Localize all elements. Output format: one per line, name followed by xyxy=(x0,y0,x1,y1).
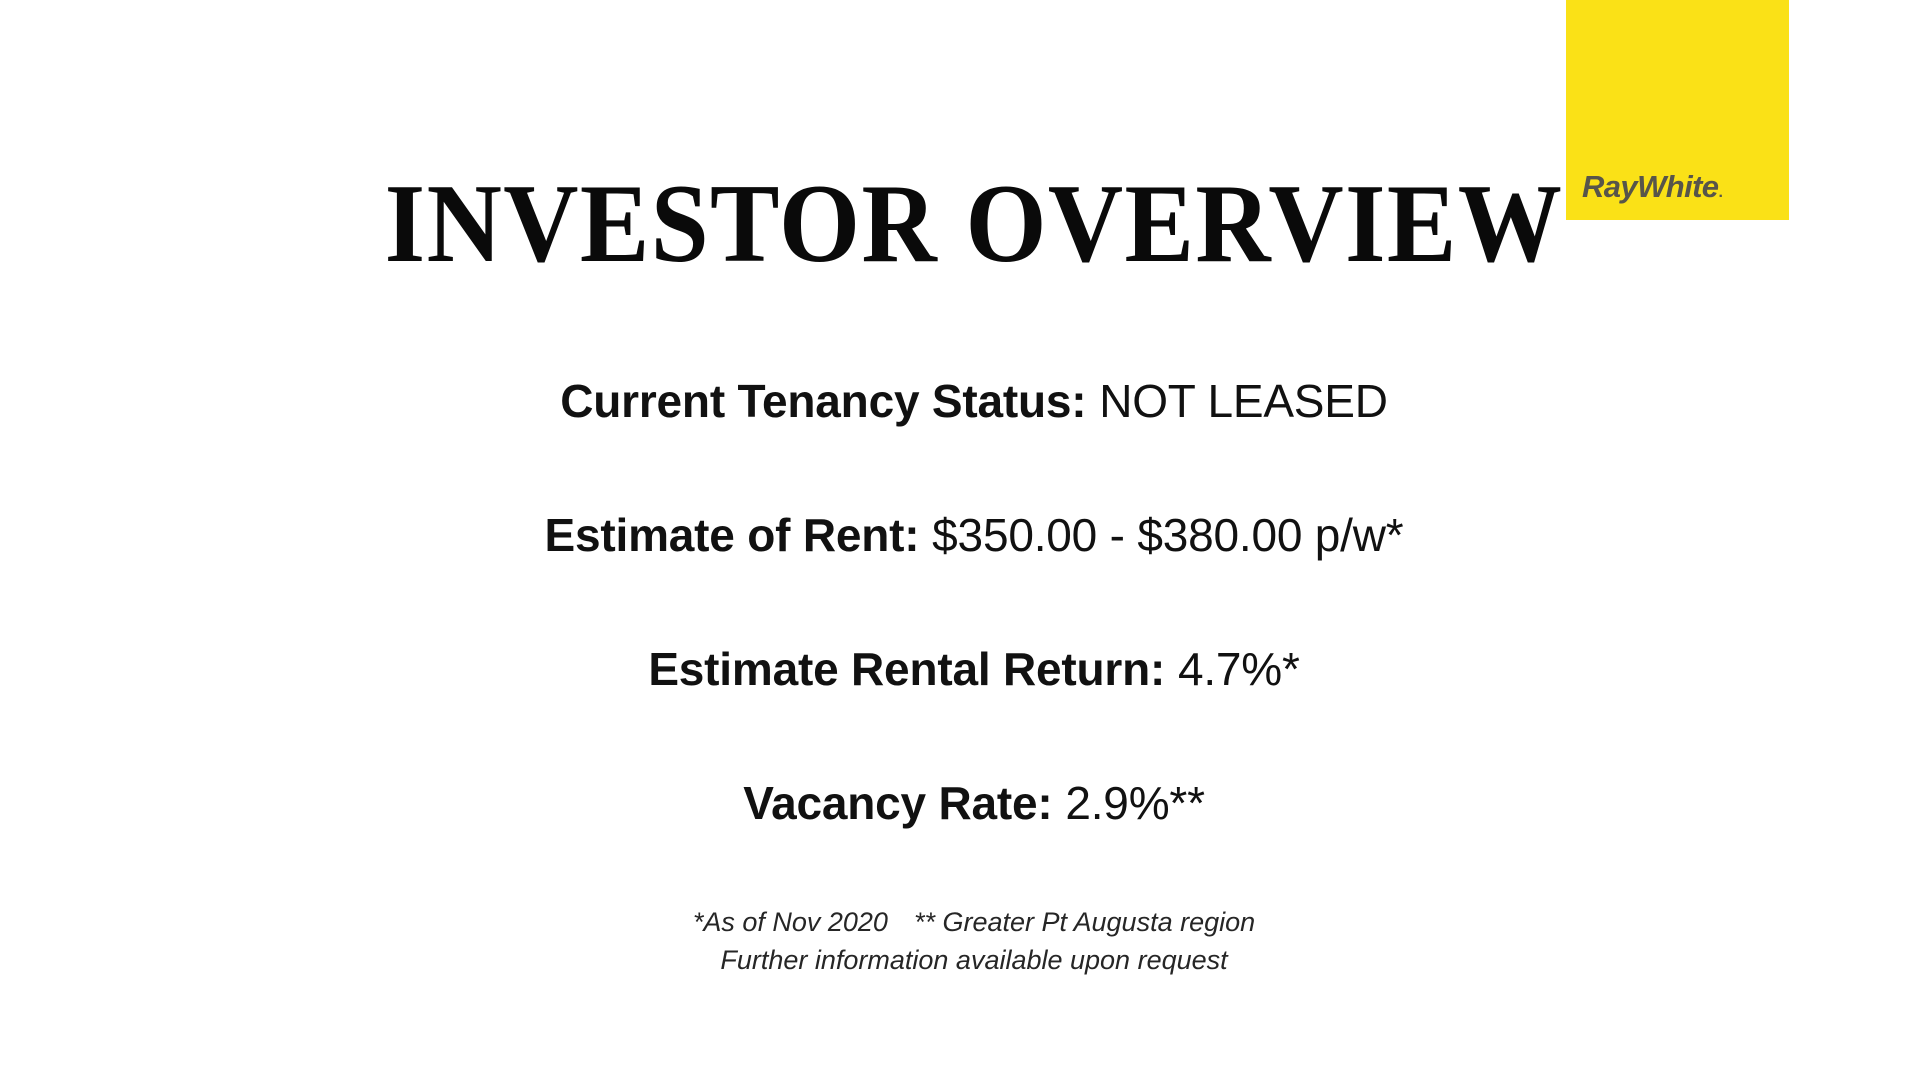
footnote-region: ** Greater Pt Augusta region xyxy=(914,907,1255,937)
stat-row-tenancy-status: Current Tenancy Status: NOT LEASED xyxy=(0,378,1920,424)
stat-row-vacancy-rate: Vacancy Rate: 2.9%** xyxy=(0,780,1920,826)
investor-overview-slide: RayWhite. INVESTOR OVERVIEW Current Tena… xyxy=(0,0,1920,1080)
stat-value-tenancy-status: NOT LEASED xyxy=(1099,375,1388,427)
footnotes: *As of Nov 2020** Greater Pt Augusta reg… xyxy=(0,903,1920,980)
footnote-line-2: Further information available upon reque… xyxy=(0,941,1920,979)
stat-row-estimate-of-rent: Estimate of Rent: $350.00 - $380.00 p/w* xyxy=(0,512,1920,558)
page-title: INVESTOR OVERVIEW xyxy=(68,168,1880,280)
stat-label-vacancy-rate: Vacancy Rate: xyxy=(743,777,1052,829)
stat-row-estimate-rental-return: Estimate Rental Return: 4.7%* xyxy=(0,646,1920,692)
footnote-as-of-date: *As of Nov 2020 xyxy=(693,907,888,937)
stat-value-estimate-rental-return: 4.7%* xyxy=(1178,643,1300,695)
stat-value-vacancy-rate: 2.9%** xyxy=(1065,777,1204,829)
stat-label-estimate-of-rent: Estimate of Rent: xyxy=(545,509,920,561)
stat-value-estimate-of-rent: $350.00 - $380.00 p/w* xyxy=(932,509,1403,561)
stat-label-tenancy-status: Current Tenancy Status: xyxy=(560,375,1086,427)
footnote-line-1: *As of Nov 2020** Greater Pt Augusta reg… xyxy=(0,903,1920,941)
investor-stats-list: Current Tenancy Status: NOT LEASED Estim… xyxy=(0,378,1920,826)
stat-label-estimate-rental-return: Estimate Rental Return: xyxy=(648,643,1165,695)
